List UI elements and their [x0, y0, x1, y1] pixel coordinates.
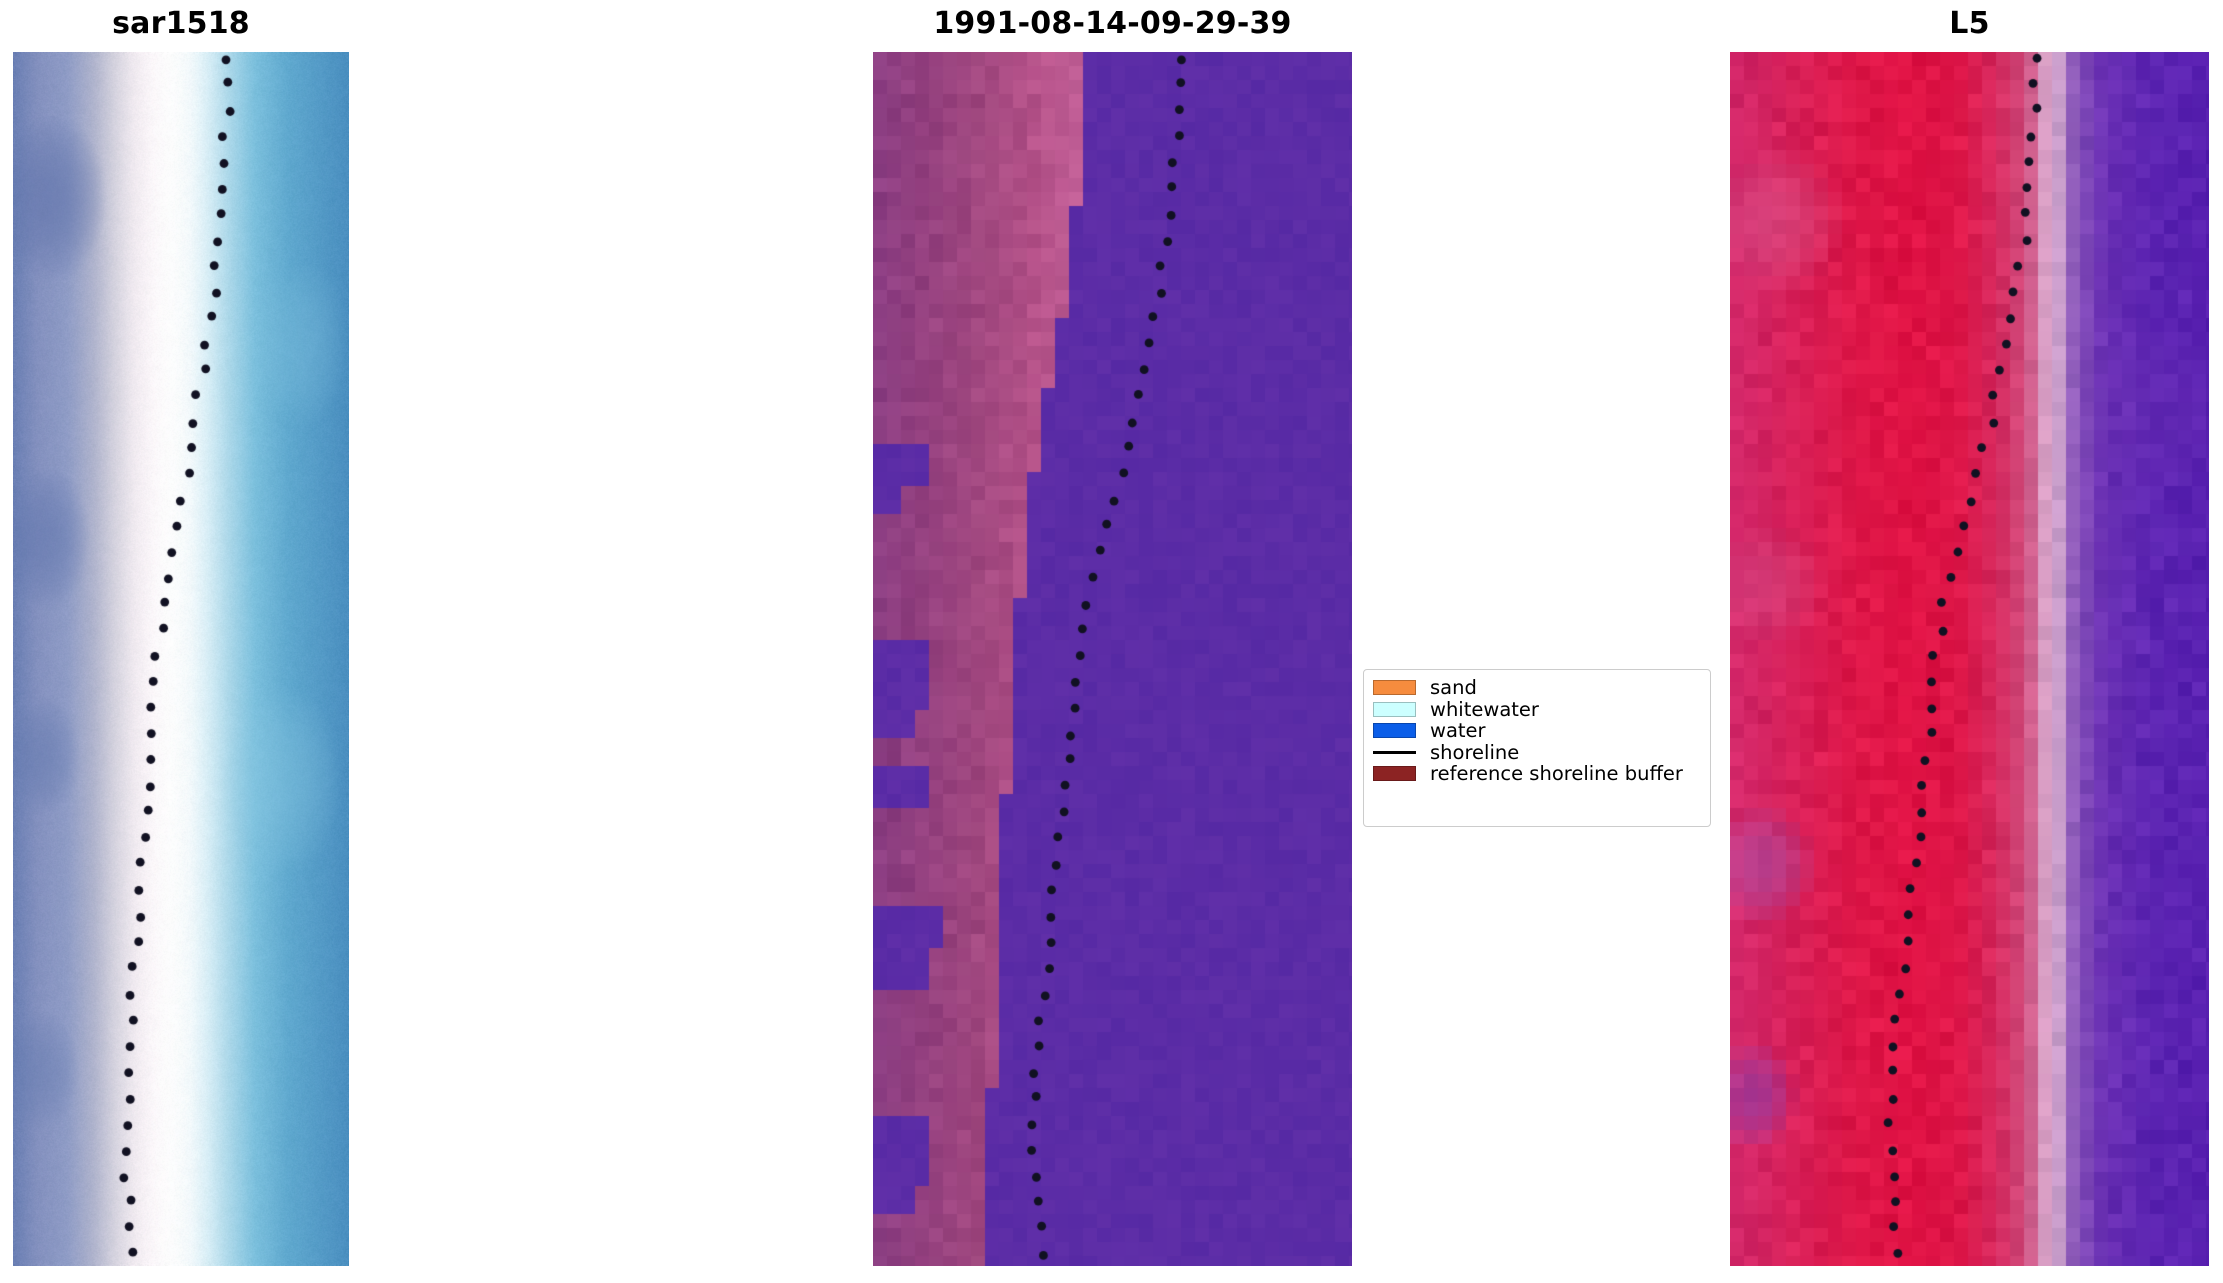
panel-title-classified: 1991-08-14-09-29-39 [873, 6, 1352, 41]
legend-item-whitewater: whitewater [1373, 699, 1701, 721]
panel-classified: 1991-08-14-09-29-39 [873, 6, 1352, 1266]
legend-swatch-cell [1373, 702, 1427, 717]
panel-title-rgb: L5 [1730, 6, 2209, 41]
legend-item-reference-shoreline-buffer: reference shoreline buffer [1373, 763, 1701, 785]
legend-color-swatch-icon [1373, 766, 1416, 781]
legend-color-swatch-icon [1373, 680, 1416, 695]
legend-label: sand [1427, 677, 1477, 698]
panel-image-sar [13, 52, 349, 1266]
panel-title-sar: sar1518 [13, 6, 349, 41]
panel-image-rgb [1730, 52, 2209, 1266]
legend-item-water: water [1373, 720, 1701, 742]
legend-swatch-cell [1373, 751, 1427, 754]
legend-swatch-cell [1373, 723, 1427, 738]
legend-item-sand: sand [1373, 677, 1701, 699]
legend-swatch-cell [1373, 766, 1427, 781]
legend: sandwhitewaterwatershorelinereference sh… [1363, 669, 1711, 827]
legend-label: reference shoreline buffer [1427, 763, 1683, 784]
panel-sar: sar1518 [13, 6, 349, 1266]
legend-color-swatch-icon [1373, 723, 1416, 738]
figure-root: sar1518 1991-08-14-09-29-39 L5 sandwhite… [0, 0, 2223, 1283]
legend-color-swatch-icon [1373, 702, 1416, 717]
legend-line-swatch-icon [1373, 751, 1416, 754]
legend-label: shoreline [1427, 742, 1519, 763]
legend-swatch-cell [1373, 680, 1427, 695]
legend-label: whitewater [1427, 699, 1539, 720]
legend-label: water [1427, 720, 1486, 741]
panel-rgb: L5 [1730, 6, 2209, 1266]
panel-image-classified [873, 52, 1352, 1266]
legend-item-shoreline: shoreline [1373, 742, 1701, 764]
